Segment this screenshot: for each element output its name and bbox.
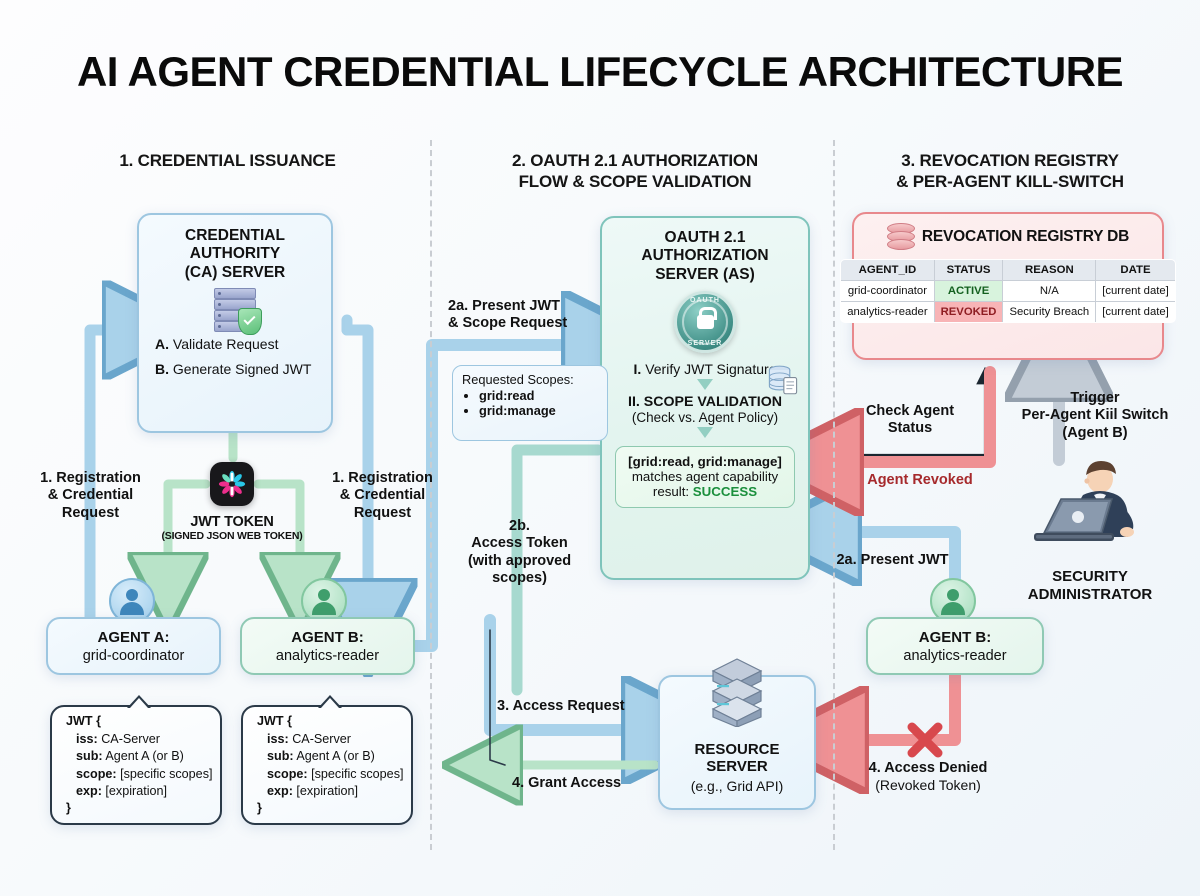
jwt-b-exp-val: [expiration] xyxy=(293,784,358,798)
jwt-payload-agent-a: JWT { iss: CA-Server sub: Agent A (or B)… xyxy=(50,705,222,825)
database-cylinder-icon xyxy=(887,223,913,251)
jwt-b-close: } xyxy=(257,801,262,815)
jwt-token-subtitle: (SIGNED JSON WEB TOKEN) xyxy=(142,530,322,542)
label-agent-revoked: Agent Revoked xyxy=(840,472,1000,489)
access-denied-l2: (Revoked Token) xyxy=(848,777,1008,794)
down-arrow-icon-2 xyxy=(697,427,713,438)
ca-step-b: B. Generate Signed JWT xyxy=(155,361,311,377)
agent-b-right-box[interactable]: AGENT B: analytics-reader xyxy=(866,617,1044,675)
jwt-a-sub-val: Agent A (or B) xyxy=(103,749,184,763)
col-status: STATUS xyxy=(934,260,1003,281)
agent-b-right-name: analytics-reader xyxy=(903,648,1006,664)
agent-b-name: analytics-reader xyxy=(276,648,379,664)
reg-left-l2: & Credential xyxy=(28,487,153,504)
jwt-payload-agent-b: JWT { iss: CA-Server sub: Agent A (or B)… xyxy=(241,705,413,825)
resource-server-subtitle: (e.g., Grid API) xyxy=(691,778,784,794)
server-rack-shield-icon xyxy=(214,288,256,332)
column-title-revocation: 3. REVOCATION REGISTRY & PER-AGENT KILL-… xyxy=(845,150,1175,193)
revocation-registry-table: AGENT_ID STATUS REASON DATE grid-coordin… xyxy=(840,259,1176,323)
agent-a-title: AGENT A: xyxy=(98,629,170,646)
check-agent-l1: Check Agent xyxy=(840,403,980,420)
access-token-l3: (with approved xyxy=(452,553,587,570)
ca-title-line1: CREDENTIAL xyxy=(185,227,285,245)
jwt-a-sub-key: sub: xyxy=(76,749,103,763)
jwt-token-title: JWT TOKEN xyxy=(142,514,322,530)
requested-scopes-heading: Requested Scopes: xyxy=(462,372,607,387)
access-denied-l1: 4. Access Denied xyxy=(848,760,1008,777)
cell-agent-id: grid-coordinator xyxy=(841,281,934,302)
access-token-l1: 2b. xyxy=(452,518,587,535)
label-2a-present-jwt-right: 2a. Present JWT xyxy=(820,552,965,569)
ca-step-a-key: A. xyxy=(155,336,169,352)
ca-step-b-key: B. xyxy=(155,361,169,377)
server-cube-stack-icon xyxy=(705,655,769,727)
database-document-icon xyxy=(766,364,800,398)
oauth-authorization-server-box[interactable]: OAUTH 2.1 AUTHORIZATION SERVER (AS) OAUT… xyxy=(600,216,810,580)
revocation-db-title: REVOCATION REGISTRY DB xyxy=(922,228,1129,246)
jwt-b-iss-val: CA-Server xyxy=(289,732,351,746)
reg-right-l2: & Credential xyxy=(320,487,445,504)
oauth-title-line2: AUTHORIZATION xyxy=(641,247,768,265)
table-row: grid-coordinator ACTIVE N/A [current dat… xyxy=(841,281,1176,302)
jwt-b-iss-key: iss: xyxy=(267,732,289,746)
diagram-canvas: AI AGENT CREDENTIAL LIFECYCLE ARCHITECTU… xyxy=(0,0,1200,896)
ca-step-a: A. Validate Request xyxy=(155,336,278,352)
column-divider-2 xyxy=(833,140,835,850)
label-trigger-kill-switch: Trigger Per-Agent Kiil Switch (Agent B) xyxy=(1000,390,1190,442)
col1-line1: 1. CREDENTIAL ISSUANCE xyxy=(45,150,410,171)
column-title-credential-issuance: 1. CREDENTIAL ISSUANCE xyxy=(45,150,410,171)
label-4-grant-access: 4. Grant Access xyxy=(512,775,667,792)
ca-server-title: CREDENTIAL AUTHORITY (CA) SERVER xyxy=(185,227,285,282)
oauth-step-1: I. Verify JWT Signature xyxy=(634,361,777,377)
label-registration-left: 1. Registration & Credential Request xyxy=(28,470,153,522)
requested-scopes-list: grid:read grid:manage xyxy=(462,388,607,418)
label-3-access-request: 3. Access Request xyxy=(497,698,657,715)
oauth-title-line1: OAUTH 2.1 xyxy=(641,229,768,247)
reg-right-l1: 1. Registration xyxy=(320,470,445,487)
label-2b-access-token: 2b. Access Token (with approved scopes) xyxy=(452,518,587,588)
reg-right-l3: Request xyxy=(320,505,445,522)
resource-server-title: RESOURCE SERVER xyxy=(694,741,779,776)
col-date: DATE xyxy=(1096,260,1176,281)
column-title-oauth-flow: 2. OAUTH 2.1 AUTHORIZATION FLOW & SCOPE … xyxy=(450,150,820,193)
scope-result-prefix: result: xyxy=(653,484,693,499)
cell-date: [current date] xyxy=(1096,281,1176,302)
credential-authority-server-box[interactable]: CREDENTIAL AUTHORITY (CA) SERVER A. Vali… xyxy=(137,213,333,433)
scope-validation-result-box: [grid:read, grid:manage] matches agent c… xyxy=(615,446,795,508)
jwt-b-open: JWT { xyxy=(257,714,292,728)
col2-line1: 2. OAUTH 2.1 AUTHORIZATION xyxy=(450,150,820,171)
cell-date: [current date] xyxy=(1096,302,1176,323)
present-jwt-l1: 2a. Present JWT xyxy=(448,298,628,315)
revocation-registry-db-box[interactable]: REVOCATION REGISTRY DB AGENT_ID STATUS R… xyxy=(852,212,1164,360)
present-jwt-l2: & Scope Request xyxy=(448,315,628,332)
agent-a-box[interactable]: AGENT A: grid-coordinator xyxy=(46,617,221,675)
resource-title-line1: RESOURCE xyxy=(694,741,779,759)
trigger-l2: Per-Agent Kiil Switch xyxy=(1000,407,1190,424)
denied-x-icon xyxy=(912,727,938,753)
col-reason: REASON xyxy=(1003,260,1096,281)
agent-a-name: grid-coordinator xyxy=(83,648,185,664)
jwt-a-exp-val: [expiration] xyxy=(102,784,167,798)
ca-title-line3: (CA) SERVER xyxy=(185,264,285,282)
reg-left-l1: 1. Registration xyxy=(28,470,153,487)
label-2a-present-jwt: 2a. Present JWT & Scope Request xyxy=(448,298,628,333)
oauth-step2-subtext: (Check vs. Agent Policy) xyxy=(632,410,778,425)
oauth-step-2: II. SCOPE VALIDATION xyxy=(628,394,782,410)
label-4-access-denied: 4. Access Denied (Revoked Token) xyxy=(848,760,1008,794)
oauth-step1-text: Verify JWT Signature xyxy=(641,361,776,377)
cell-reason: Security Breach xyxy=(1003,302,1096,323)
col3-line1: 3. REVOCATION REGISTRY xyxy=(845,150,1175,171)
oauth-step2-text: SCOPE VALIDATION xyxy=(640,394,782,410)
ca-title-line2: AUTHORITY xyxy=(185,245,285,263)
oauth-title-line3: SERVER (AS) xyxy=(641,266,768,284)
col3-line2: & PER-AGENT KILL-SWITCH xyxy=(845,171,1175,192)
jwt-b-scope-val: [specific scopes] xyxy=(308,767,404,781)
table-row: analytics-reader REVOKED Security Breach… xyxy=(841,302,1176,323)
col2-line2: FLOW & SCOPE VALIDATION xyxy=(450,171,820,192)
trigger-l3: (Agent B) xyxy=(1000,425,1190,442)
status-badge-revoked: REVOKED xyxy=(934,302,1003,323)
down-arrow-icon-1 xyxy=(697,379,713,390)
jwt-token-chip-icon xyxy=(210,462,254,506)
label-registration-right: 1. Registration & Credential Request xyxy=(320,470,445,522)
agent-b-title: AGENT B: xyxy=(291,629,364,646)
admin-person-laptop-icon xyxy=(1028,455,1146,565)
resource-server-box[interactable]: RESOURCE SERVER (e.g., Grid API) xyxy=(658,675,816,810)
requested-scope-item: grid:read xyxy=(479,388,607,403)
check-agent-l2: Status xyxy=(840,420,980,437)
table-header-row: AGENT_ID STATUS REASON DATE xyxy=(841,260,1176,281)
label-check-agent-status: Check Agent Status xyxy=(840,403,980,438)
reg-left-l3: Request xyxy=(28,505,153,522)
oauth-title: OAUTH 2.1 AUTHORIZATION SERVER (AS) xyxy=(641,229,768,284)
jwt-a-close: } xyxy=(66,801,71,815)
requested-scope-item: grid:manage xyxy=(479,403,607,418)
agent-b-box[interactable]: AGENT B: analytics-reader xyxy=(240,617,415,675)
sec-admin-line1: SECURITY xyxy=(1010,568,1170,586)
cell-reason: N/A xyxy=(1003,281,1096,302)
ca-step-b-text: Generate Signed JWT xyxy=(169,361,311,377)
agent-b-right-title: AGENT B: xyxy=(919,629,992,646)
jwt-a-exp-key: exp: xyxy=(76,784,102,798)
jwt-b-sub-key: sub: xyxy=(267,749,294,763)
jwt-b-sub-val: Agent A (or B) xyxy=(294,749,375,763)
jwt-a-open: JWT { xyxy=(66,714,101,728)
sec-admin-line2: ADMINISTRATOR xyxy=(1010,586,1170,604)
oauth-seal-top-text: OAUTH xyxy=(677,297,733,304)
requested-scopes-box: Requested Scopes: grid:read grid:manage xyxy=(452,365,608,441)
col-agent-id: AGENT_ID xyxy=(841,260,934,281)
scope-result-scopes: [grid:read, grid:manage] xyxy=(621,454,789,469)
jwt-b-scope-key: scope: xyxy=(267,767,308,781)
access-token-l4: scopes) xyxy=(452,570,587,587)
cell-agent-id: analytics-reader xyxy=(841,302,934,323)
access-token-l2: Access Token xyxy=(452,535,587,552)
jwt-a-iss-val: CA-Server xyxy=(98,732,160,746)
scope-result-status: SUCCESS xyxy=(693,484,757,499)
revocation-db-header: REVOCATION REGISTRY DB xyxy=(887,223,1129,251)
status-badge-active: ACTIVE xyxy=(934,281,1003,302)
resource-title-line2: SERVER xyxy=(694,758,779,776)
jwt-token-label: JWT TOKEN (SIGNED JSON WEB TOKEN) xyxy=(142,514,322,542)
oauth-seal-bottom-text: SERVER xyxy=(677,340,733,347)
trigger-l1: Trigger xyxy=(1000,390,1190,407)
ca-step-a-text: Validate Request xyxy=(169,336,278,352)
jwt-b-exp-key: exp: xyxy=(267,784,293,798)
security-administrator-label: SECURITY ADMINISTRATOR xyxy=(1010,568,1170,604)
oauth-step2-key: II. xyxy=(628,394,640,410)
jwt-a-scope-key: scope: xyxy=(76,767,117,781)
oauth-lock-seal-icon: OAUTH SERVER xyxy=(674,291,736,353)
scope-result-capability: matches agent capability xyxy=(621,469,789,484)
jwt-a-scope-val: [specific scopes] xyxy=(117,767,213,781)
jwt-a-iss-key: iss: xyxy=(76,732,98,746)
page-title: AI AGENT CREDENTIAL LIFECYCLE ARCHITECTU… xyxy=(0,48,1200,96)
